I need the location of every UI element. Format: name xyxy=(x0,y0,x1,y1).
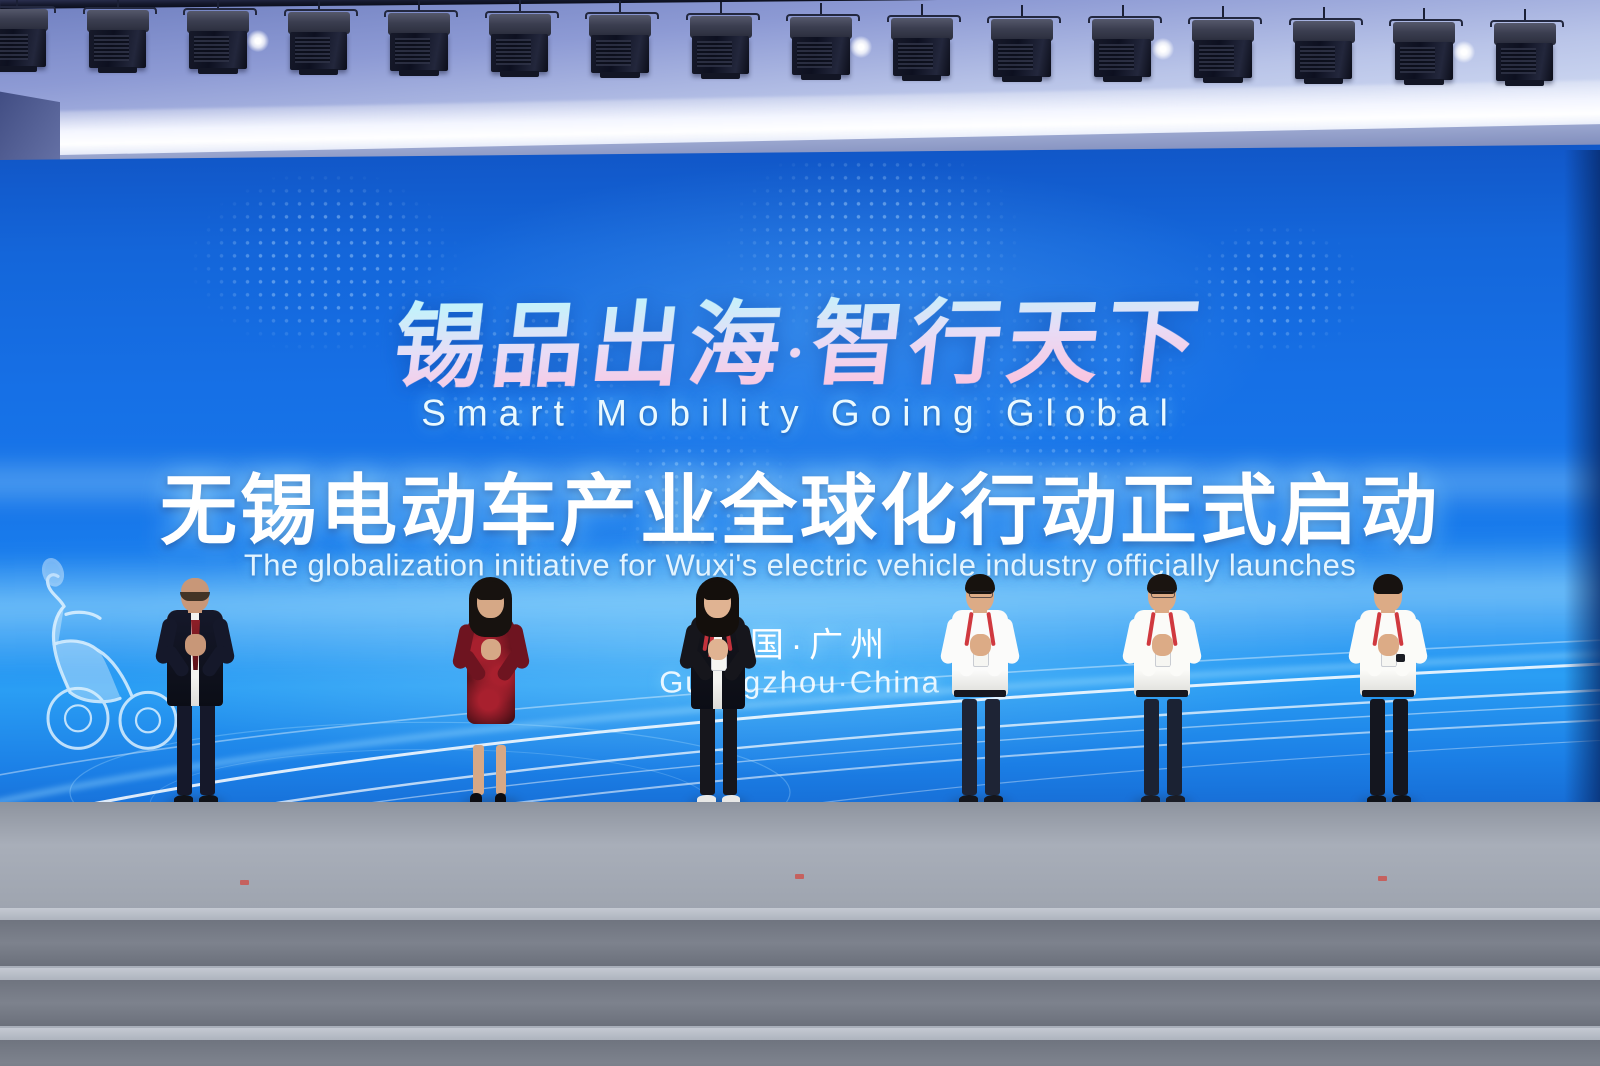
stage-spotlight xyxy=(690,5,752,81)
person-leg-left xyxy=(700,702,715,795)
spotlight-head xyxy=(388,13,450,35)
step-tread xyxy=(0,908,1600,920)
stage-spotlight xyxy=(1192,9,1254,85)
person-belt xyxy=(1362,690,1414,697)
spotlight-vent xyxy=(1300,46,1335,72)
stage-spotlight xyxy=(1393,11,1455,87)
stage-spotlight xyxy=(0,0,48,74)
english-slogan: Smart Mobility Going Global xyxy=(0,392,1600,434)
step-riser xyxy=(0,1040,1600,1066)
spotlight-foot xyxy=(701,73,741,79)
person-hair xyxy=(181,578,209,591)
spotlight-vent xyxy=(1501,48,1536,74)
spotlight-foot xyxy=(1103,76,1143,82)
person-2 xyxy=(418,562,564,805)
floor-tape-mark xyxy=(795,874,804,879)
stage-spotlight xyxy=(187,0,249,76)
floor-tape-mark xyxy=(240,880,249,885)
person-belt xyxy=(1136,690,1188,697)
spotlight-foot xyxy=(600,72,640,78)
person-leg-right xyxy=(200,699,215,795)
person-leg-right xyxy=(723,702,738,795)
stage-spotlight xyxy=(891,7,953,83)
spotlight-foot xyxy=(801,74,841,80)
stage-step xyxy=(0,1028,1600,1066)
spotlight-hook xyxy=(418,0,420,10)
spotlight-hook xyxy=(619,1,621,12)
spotlight-hook xyxy=(820,3,822,14)
person-leg-right xyxy=(985,699,1000,795)
person-hands-clapping xyxy=(1378,634,1399,656)
person-hair-side xyxy=(180,592,210,601)
person-wristwatch xyxy=(1396,654,1405,662)
person-1 xyxy=(120,554,270,804)
stage-spotlight xyxy=(1494,12,1556,88)
spotlight-head xyxy=(1192,20,1254,42)
spotlight-foot xyxy=(98,67,138,73)
person-leg-right xyxy=(1167,699,1182,795)
spotlight-hook xyxy=(1122,5,1124,16)
person-leg-left xyxy=(962,699,977,795)
led-wall-right-edge xyxy=(1564,150,1600,850)
stage-spotlight xyxy=(1293,10,1355,86)
spotlight-hook xyxy=(1021,5,1023,16)
spotlight-hook xyxy=(1423,8,1425,19)
spotlight-vent xyxy=(1199,45,1234,71)
spotlight-vent xyxy=(395,38,430,64)
person-glasses xyxy=(1151,591,1175,598)
person-3 xyxy=(645,562,791,805)
spotlight-hook xyxy=(1524,9,1526,20)
person-6 xyxy=(1313,554,1463,804)
spotlight-beam xyxy=(247,30,269,52)
spotlight-hook xyxy=(117,0,119,7)
spotlight-vent xyxy=(1099,44,1134,70)
person-hands-clapping xyxy=(970,634,991,656)
spotlight-vent xyxy=(94,35,129,61)
stage-spotlight xyxy=(589,4,651,80)
spotlight-head xyxy=(891,18,953,40)
stage-spotlight xyxy=(991,8,1053,84)
person-leg-left xyxy=(177,699,192,795)
stage-spotlight xyxy=(288,1,350,77)
spotlight-hook xyxy=(217,0,219,8)
stage-step xyxy=(0,908,1600,968)
person-5 xyxy=(1087,554,1237,804)
spotlight-hook xyxy=(921,4,923,15)
spotlight-head xyxy=(0,9,48,31)
spotlight-foot xyxy=(0,66,37,72)
person-4 xyxy=(905,554,1055,804)
spotlight-foot xyxy=(902,75,942,81)
person-leg-left xyxy=(473,745,484,795)
spotlight-vent xyxy=(496,39,531,65)
spotlight-foot xyxy=(500,71,540,77)
spotlight-head xyxy=(1092,19,1154,41)
spotlight-head xyxy=(1393,22,1455,44)
stage-spotlight xyxy=(1092,8,1154,84)
spotlight-foot xyxy=(1304,78,1344,84)
spotlight-vent xyxy=(1400,47,1435,73)
spotlight-vent xyxy=(295,37,330,63)
spotlight-hook xyxy=(720,2,722,13)
spotlight-head xyxy=(288,12,350,34)
spotlight-vent xyxy=(998,44,1033,70)
spotlight-head xyxy=(1494,23,1556,45)
spotlight-hook xyxy=(1323,7,1325,18)
step-riser xyxy=(0,920,1600,966)
spotlight-foot xyxy=(1002,76,1042,82)
stage-step xyxy=(0,968,1600,1028)
person-leg-right xyxy=(1393,699,1408,795)
spotlight-hook xyxy=(1222,6,1224,17)
person-hair xyxy=(1373,574,1403,594)
spotlight-vent xyxy=(0,34,28,60)
spotlight-head xyxy=(87,10,149,32)
stage-spotlight xyxy=(489,3,551,79)
person-belt xyxy=(954,690,1006,697)
stage-spotlight xyxy=(388,2,450,78)
spotlight-foot xyxy=(299,69,339,75)
person-leg-left xyxy=(1144,699,1159,795)
spotlight-beam xyxy=(1152,38,1174,60)
spotlight-vent xyxy=(797,42,832,68)
floor-tape-marks xyxy=(0,802,1600,912)
person-leg-left xyxy=(1370,699,1385,795)
spotlight-head xyxy=(187,11,249,33)
spotlight-vent xyxy=(697,41,732,67)
floor-tape-mark xyxy=(1378,876,1387,881)
step-riser xyxy=(0,980,1600,1026)
step-tread xyxy=(0,1028,1600,1040)
person-leg-right xyxy=(496,745,507,795)
spotlight-head xyxy=(790,17,852,39)
spotlight-foot xyxy=(399,70,439,76)
spotlight-foot xyxy=(1203,77,1243,83)
spotlight-head xyxy=(690,16,752,38)
person-hands-clapping xyxy=(708,639,728,660)
calligraphy-title: 锡品出海·智行天下 xyxy=(0,265,1600,409)
person-hands-clapping xyxy=(1152,634,1173,656)
person-glasses xyxy=(969,591,993,598)
spotlight-head xyxy=(1293,21,1355,43)
spotlight-beam xyxy=(850,36,872,58)
stage-spotlight xyxy=(790,6,852,82)
person-hands-clapping xyxy=(185,634,206,656)
spotlight-head xyxy=(489,14,551,36)
step-tread xyxy=(0,968,1600,980)
spotlight-foot xyxy=(1404,79,1444,85)
spotlight-foot xyxy=(1505,80,1545,86)
spotlight-hook xyxy=(519,0,521,11)
calligraphy-part-2: 智行天下 xyxy=(805,287,1210,398)
spotlight-vent xyxy=(898,43,933,69)
event-stage-scene: 锡品出海·智行天下 Smart Mobility Going Global 无锡… xyxy=(0,0,1600,1066)
spotlight-head xyxy=(589,15,651,37)
spotlight-vent xyxy=(596,40,631,66)
stage-spotlight xyxy=(87,0,149,75)
spotlight-foot xyxy=(198,68,238,74)
spotlight-vent xyxy=(194,36,229,62)
spotlight-hook xyxy=(318,0,320,9)
calligraphy-part-1: 锡品出海 xyxy=(388,290,793,401)
spotlight-head xyxy=(991,19,1053,41)
person-hands-clapping xyxy=(481,639,501,660)
